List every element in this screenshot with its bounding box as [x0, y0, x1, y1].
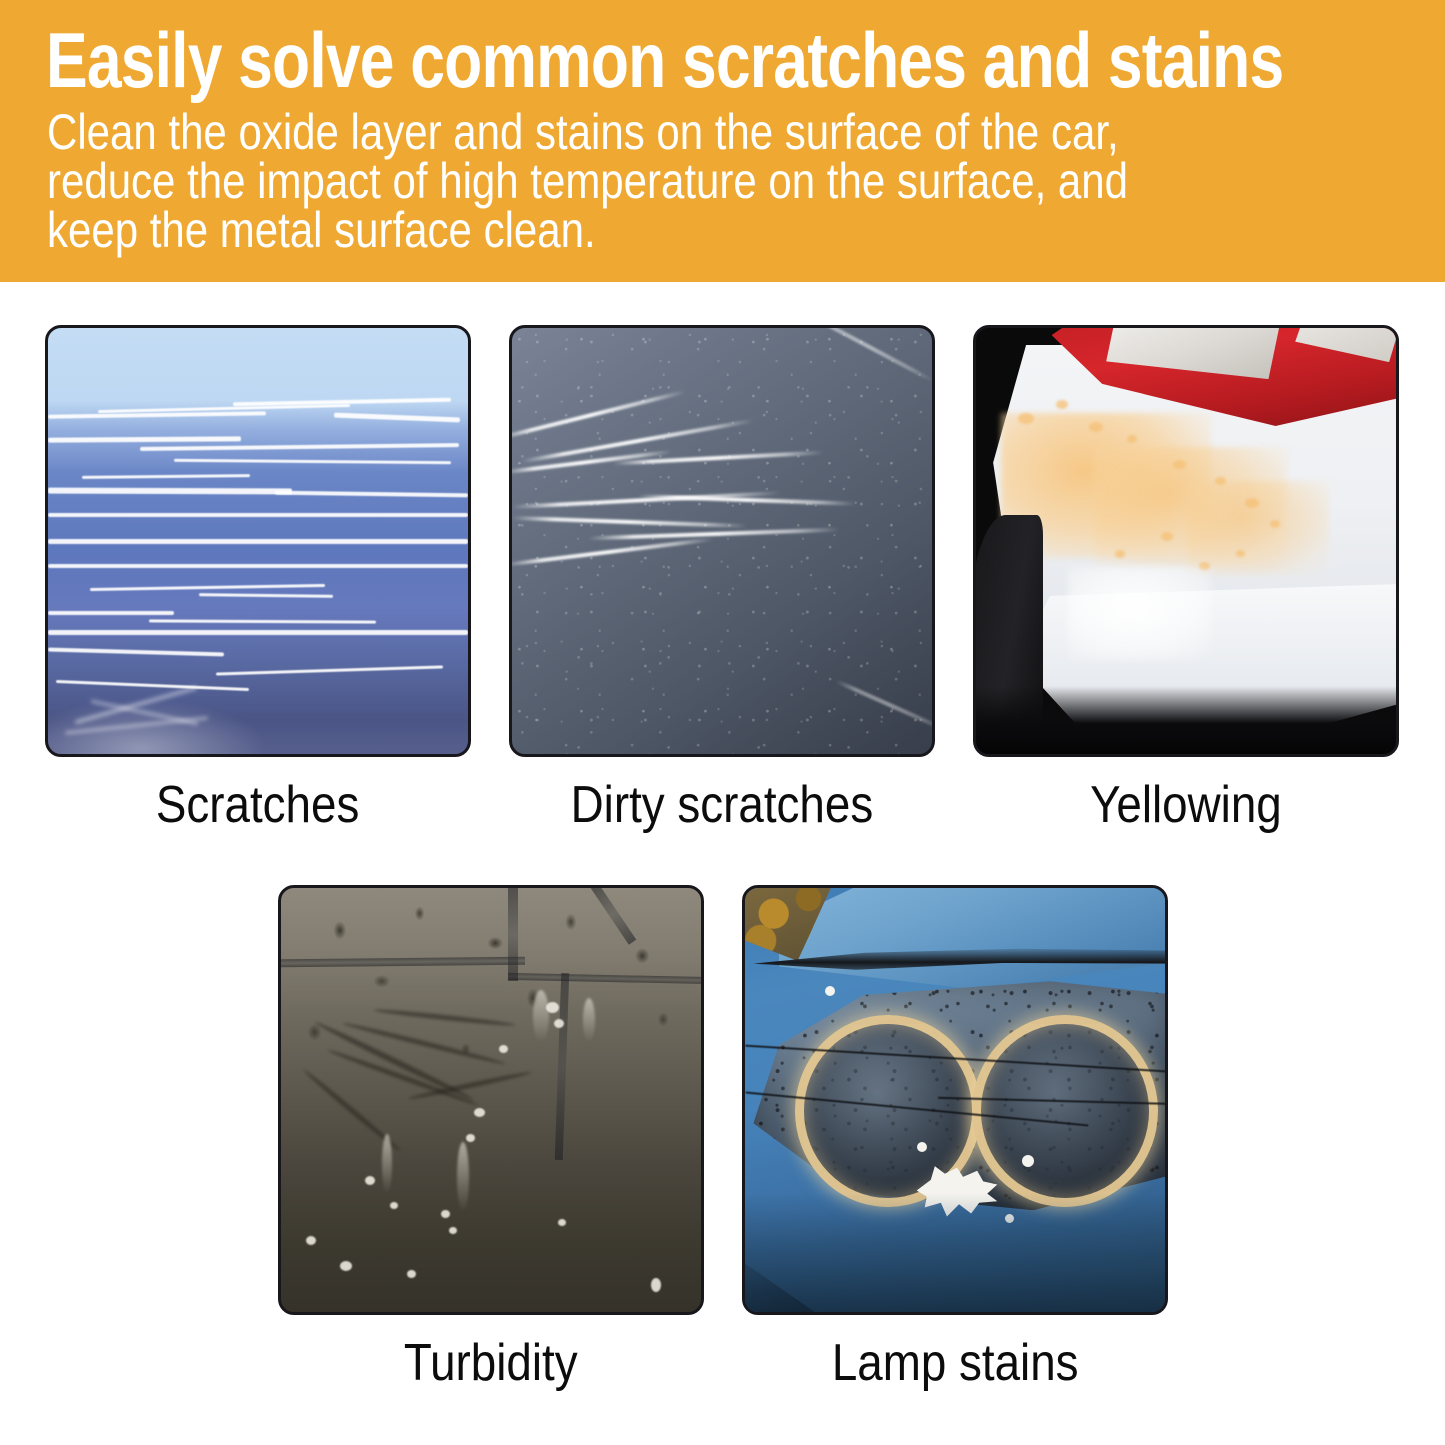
banner-body-line-3: keep the metal surface clean.: [47, 206, 1445, 255]
photo-dirty-scratches[interactable]: [509, 325, 935, 757]
photo-turbidity[interactable]: [278, 885, 704, 1315]
banner-body-line-1: Clean the oxide layer and stains on the …: [47, 108, 1445, 157]
gallery-item-lamp-stains[interactable]: Lamp stains: [742, 885, 1168, 1393]
banner-headline: Easily solve common scratches and stains: [46, 18, 1283, 102]
gallery-row-bottom: Turbidity Lamp stains: [278, 885, 1168, 1393]
gallery-row-top: Scratches Dirty scratches: [45, 325, 1400, 835]
caption-dirty-scratches: Dirty scratches: [571, 775, 874, 835]
banner-body-line-2: reduce the impact of high temperature on…: [47, 157, 1445, 206]
gallery-item-dirty-scratches[interactable]: Dirty scratches: [509, 325, 935, 835]
caption-scratches: Scratches: [156, 775, 359, 835]
caption-lamp-stains: Lamp stains: [832, 1333, 1079, 1393]
surface-speckle: [512, 328, 932, 754]
caption-turbidity: Turbidity: [404, 1333, 578, 1393]
gallery-item-yellowing[interactable]: Yellowing: [973, 325, 1399, 835]
caption-yellowing: Yellowing: [1090, 775, 1282, 835]
headlight-ring-outer: [972, 1015, 1158, 1207]
photo-lamp-stains[interactable]: [742, 885, 1168, 1315]
gallery-item-turbidity[interactable]: Turbidity: [278, 885, 704, 1393]
header-banner: Easily solve common scratches and stains…: [0, 0, 1445, 282]
photo-yellowing[interactable]: [973, 325, 1399, 757]
photo-scratches[interactable]: [45, 325, 471, 757]
banner-body-text: Clean the oxide layer and stains on the …: [47, 108, 1445, 255]
gallery-item-scratches[interactable]: Scratches: [45, 325, 471, 835]
